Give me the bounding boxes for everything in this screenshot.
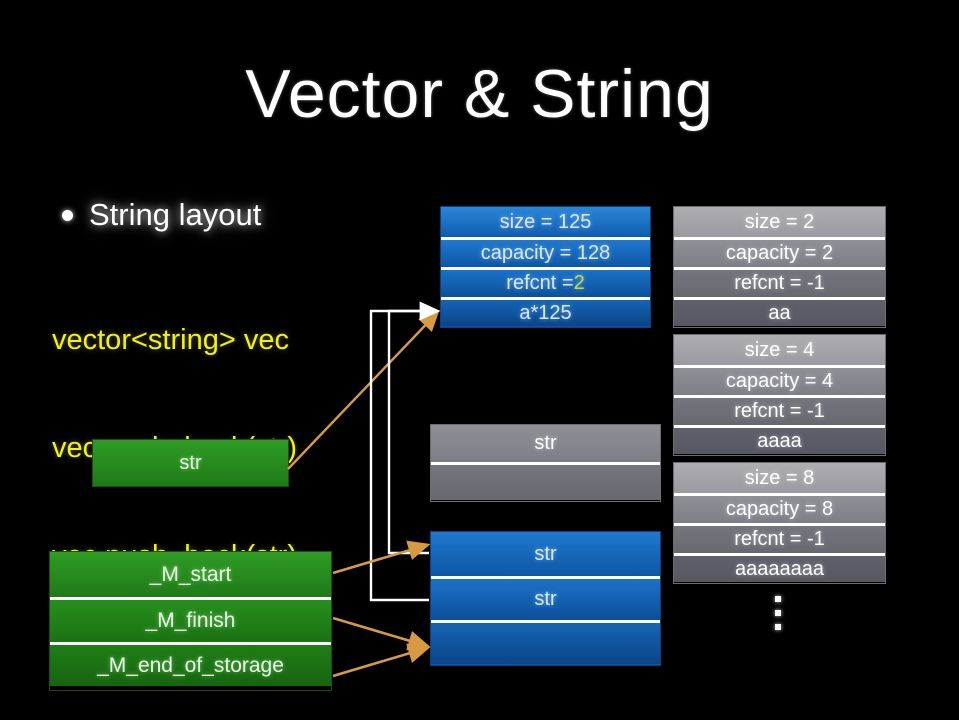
string-rep-box: size = 125 capacity = 128 refcnt = 2 a*1…	[440, 206, 651, 328]
heap1-row-size: size = 2	[674, 207, 885, 237]
str-variable-row: str	[93, 440, 288, 486]
code-line-1: vector<string> vec	[52, 322, 297, 358]
page-title: Vector & String	[0, 55, 959, 133]
heap1-data-label: aa	[768, 302, 790, 325]
heap-string-box-1: size = 2 capacity = 2 refcnt = -1 aa	[673, 206, 886, 328]
gray-str-row-1: str	[431, 425, 660, 462]
vector-row-m-start: _M_start	[50, 552, 331, 597]
heap2-row-capacity: capacity = 4	[674, 365, 885, 395]
string-rep-refcnt-value: 2	[574, 272, 585, 295]
heap3-size-label: size = 8	[745, 467, 814, 490]
string-rep-capacity-label: capacity = 128	[481, 242, 611, 265]
vector-storage-row-1: str	[431, 532, 660, 576]
arrow-m-finish-to-storage	[333, 618, 427, 646]
pointer-slot2-to-string-rep	[371, 311, 437, 600]
arrow-str-to-string-rep	[288, 313, 437, 469]
bullet-item-label: String layout	[89, 197, 261, 233]
heap3-row-size: size = 8	[674, 463, 885, 493]
vector-row-m-end-of-storage: _M_end_of_storage	[50, 642, 331, 686]
vector-members-box: _M_start _M_finish _M_end_of_storage	[49, 551, 332, 691]
heap1-size-label: size = 2	[745, 211, 814, 234]
str-variable-label: str	[179, 452, 201, 475]
vector-m-finish-label: _M_finish	[146, 609, 236, 633]
vector-m-end-label: _M_end_of_storage	[97, 654, 284, 678]
string-rep-size-label: size = 125	[500, 211, 592, 234]
heap2-data-label: aaaa	[757, 430, 802, 453]
heap2-row-refcnt: refcnt = -1	[674, 395, 885, 425]
heap3-row-refcnt: refcnt = -1	[674, 523, 885, 553]
vector-row-m-finish: _M_finish	[50, 597, 331, 642]
heap2-row-size: size = 4	[674, 335, 885, 365]
heap3-refcnt-label: refcnt = -1	[734, 528, 825, 551]
heap2-refcnt-label: refcnt = -1	[734, 400, 825, 423]
heap-string-box-2: size = 4 capacity = 4 refcnt = -1 aaaa	[673, 334, 886, 456]
vector-storage-row-2: str	[431, 576, 660, 620]
vector-storage-box: str str	[430, 531, 661, 666]
heap1-row-capacity: capacity = 2	[674, 237, 885, 267]
heap1-row-refcnt: refcnt = -1	[674, 267, 885, 297]
bullet-dot-icon	[62, 210, 73, 221]
arrow-m-end-to-storage	[333, 648, 427, 676]
vector-m-start-label: _M_start	[150, 563, 232, 587]
gray-str-slot-box: str	[430, 424, 661, 502]
heap1-refcnt-label: refcnt = -1	[734, 272, 825, 295]
heap3-capacity-label: capacity = 8	[726, 498, 833, 521]
string-rep-row-size: size = 125	[441, 207, 650, 237]
heap2-row-data: aaaa	[674, 425, 885, 454]
ellipsis-dot	[775, 596, 781, 602]
string-rep-row-capacity: capacity = 128	[441, 237, 650, 267]
heap3-row-data: aaaaaaaa	[674, 553, 885, 582]
str-variable-box: str	[92, 439, 289, 487]
string-rep-row-data: a*125	[441, 297, 650, 326]
heap2-capacity-label: capacity = 4	[726, 370, 833, 393]
string-rep-refcnt-label: refcnt =	[506, 272, 573, 295]
vector-storage-row-3	[431, 620, 660, 664]
string-rep-data-label: a*125	[519, 302, 571, 325]
gray-str-row-1-label: str	[534, 432, 556, 455]
vector-storage-row-1-label: str	[534, 543, 556, 566]
heap1-capacity-label: capacity = 2	[726, 242, 833, 265]
slide-canvas: Vector & String String layout vector<str…	[0, 0, 959, 720]
heap-string-box-3: size = 8 capacity = 8 refcnt = -1 aaaaaa…	[673, 462, 886, 584]
vertical-ellipsis-icon	[771, 596, 785, 630]
heap1-row-data: aa	[674, 297, 885, 326]
heap2-size-label: size = 4	[745, 339, 814, 362]
string-rep-row-refcnt: refcnt = 2	[441, 267, 650, 297]
heap3-row-capacity: capacity = 8	[674, 493, 885, 523]
vector-storage-row-2-label: str	[534, 588, 556, 611]
ellipsis-dot	[775, 610, 781, 616]
arrow-m-start-to-storage	[333, 545, 427, 573]
ellipsis-dot	[775, 624, 781, 630]
gray-str-row-2	[431, 462, 660, 500]
bullet-item-string-layout: String layout	[62, 197, 261, 233]
heap3-data-label: aaaaaaaa	[735, 558, 824, 581]
